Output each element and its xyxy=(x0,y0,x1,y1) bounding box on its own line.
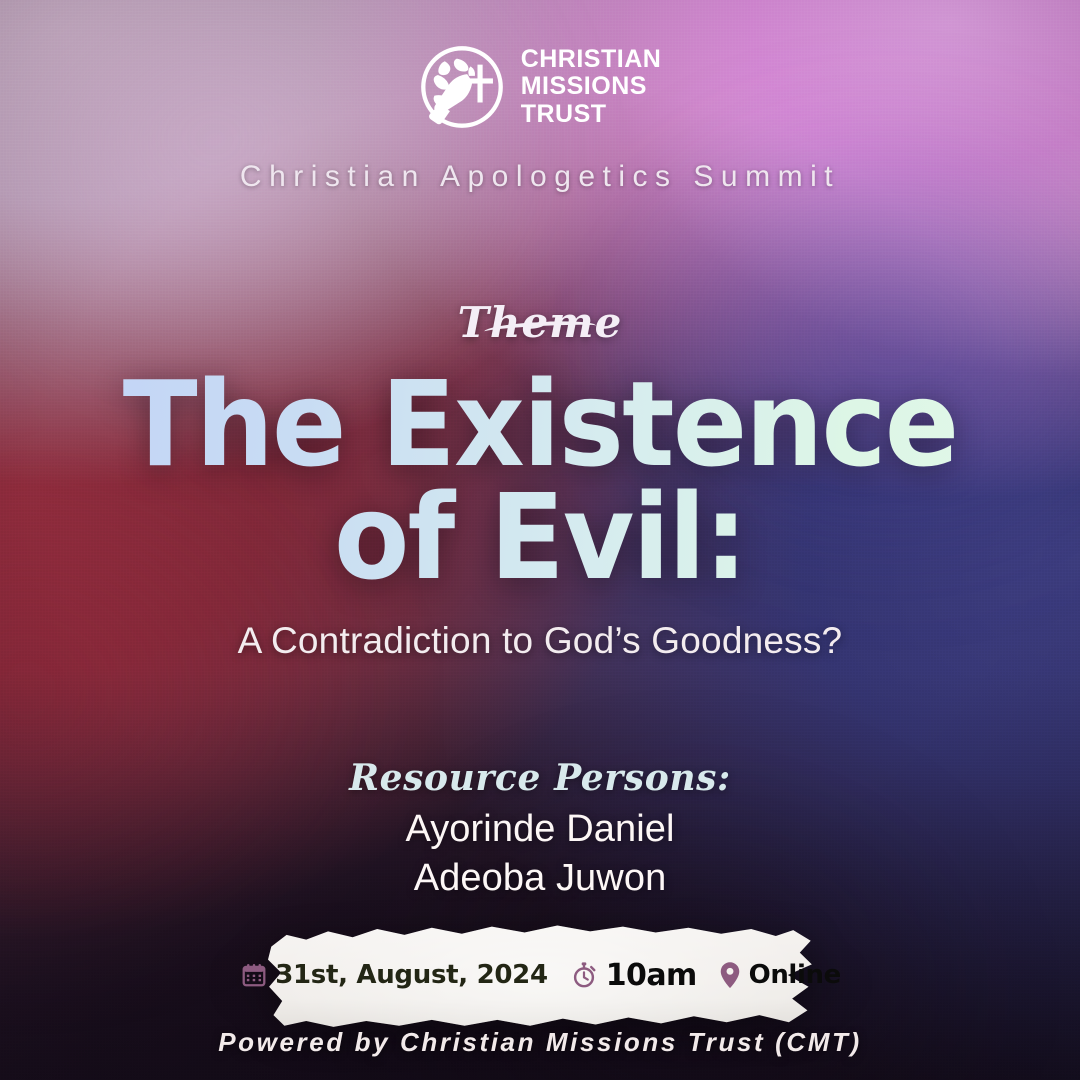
speakers-list: Ayorinde Daniel Adeoba Juwon xyxy=(0,805,1080,902)
page-title: The Existence of Evil: xyxy=(38,368,1042,595)
stopwatch-icon xyxy=(570,961,598,989)
detail-location: Online xyxy=(719,960,841,990)
speaker-name: Adeoba Juwon xyxy=(0,854,1080,903)
theme-subtitle: A Contradiction to God’s Goodness? xyxy=(0,620,1080,662)
detail-time: 10am xyxy=(570,958,697,993)
title-line-1: The Existence xyxy=(38,368,1042,481)
event-name: Christian Apologetics Summit xyxy=(0,160,1080,194)
detail-location-text: Online xyxy=(749,960,841,990)
brand-name: CHRISTIAN MISSIONS TRUST xyxy=(521,46,662,129)
speaker-name: Ayorinde Daniel xyxy=(0,805,1080,854)
brand-name-line-2: MISSIONS xyxy=(521,73,662,101)
details-banner: 31st, August, 2024 10am xyxy=(268,916,814,1034)
event-flyer: CHRISTIAN MISSIONS TRUST Christian Apolo… xyxy=(0,0,1080,1080)
footer-credit: Powered by Christian Missions Trust (CMT… xyxy=(0,1027,1080,1058)
brand-name-line-3: TRUST xyxy=(521,101,662,129)
speakers-label: Resource Persons: xyxy=(0,757,1080,799)
detail-date-text: 31st, August, 2024 xyxy=(275,960,548,990)
brand-name-line-1: CHRISTIAN xyxy=(521,46,662,74)
theme-label-block: Theme xyxy=(0,322,1080,347)
detail-date: 31st, August, 2024 xyxy=(241,960,548,990)
flyer-content: CHRISTIAN MISSIONS TRUST Christian Apolo… xyxy=(0,0,1080,1080)
calendar-icon xyxy=(241,962,267,988)
details-row: 31st, August, 2024 10am xyxy=(268,916,814,1034)
map-pin-icon xyxy=(719,961,741,989)
globe-megaphone-cross-icon xyxy=(419,44,505,130)
brand-logo: CHRISTIAN MISSIONS TRUST xyxy=(0,44,1080,130)
detail-time-text: 10am xyxy=(606,958,697,993)
title-line-2: of Evil: xyxy=(38,481,1042,594)
